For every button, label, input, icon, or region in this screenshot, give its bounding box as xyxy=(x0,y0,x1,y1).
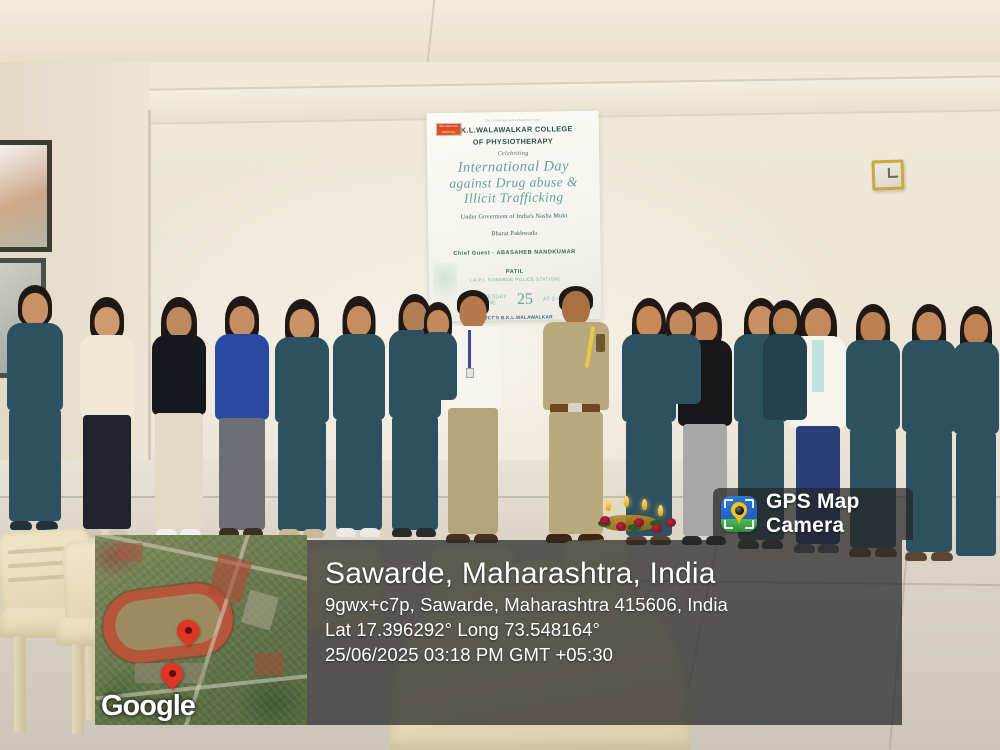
id-card-icon xyxy=(466,368,474,378)
gps-map-camera-logo-icon xyxy=(721,496,757,532)
person-student xyxy=(76,297,138,542)
google-watermark: Google xyxy=(101,690,195,723)
poster-gov-line1: Under Goverment of India's Nasha Mukt xyxy=(436,212,592,223)
gps-text-block: Sawarde, Maharashtra, India 9gwx+c7p, Sa… xyxy=(325,556,728,667)
gps-map-camera-badge: GPS Map Camera xyxy=(713,488,913,540)
poster-title-script: International Day against Drug abuse & I… xyxy=(435,159,592,206)
poster-station: ( A.P.I. SAWARDE POLICE STATION) xyxy=(437,276,593,283)
lamp-flame xyxy=(658,505,663,516)
person-student xyxy=(212,296,272,544)
person-student xyxy=(148,297,210,542)
map-pin-icon xyxy=(161,663,183,693)
person-student-back-row xyxy=(660,302,702,402)
person-student xyxy=(330,296,388,544)
poster-script-line3: Illicit Trafficking xyxy=(436,189,592,206)
window-upper-left xyxy=(0,140,52,252)
lanyard-icon xyxy=(468,330,471,370)
poster-logo-line2: HOSPITAL xyxy=(437,130,461,137)
wall-clock-icon xyxy=(871,159,904,190)
gps-coordinates-line: Lat 17.396292° Long 73.548164° xyxy=(325,617,728,642)
poster-celebrating: Celebriting xyxy=(435,150,591,158)
poster-script-line2: against Drug abuse & xyxy=(435,174,591,191)
inner-top xyxy=(812,340,824,392)
rose-decor xyxy=(600,516,610,525)
poster-guest-line1: Chief Guest - ABASAHEB NANDKUMAR xyxy=(436,249,592,258)
gps-app-name: GPS Map Camera xyxy=(766,490,913,538)
rose-decor xyxy=(652,524,662,533)
gps-location-title: Sawarde, Maharashtra, India xyxy=(325,556,728,592)
person-student xyxy=(272,299,332,544)
rose-decor xyxy=(666,518,676,527)
poster-logo-icon: WALAWALKAR HOSPITAL xyxy=(436,123,462,136)
lamp-flame xyxy=(624,496,629,507)
rose-decor xyxy=(634,518,644,527)
map-pin-icon xyxy=(177,620,199,650)
gps-address-line: 9gwx+c7p, Sawarde, Maharashtra 415606, I… xyxy=(325,592,728,617)
person-student-back-row xyxy=(762,300,808,420)
poster-date-number: 25 xyxy=(517,291,533,309)
gps-timestamp-line: 25/06/2025 03:18 PM GMT +05:30 xyxy=(325,642,728,667)
shoulder-patch-icon xyxy=(596,334,605,352)
poster-heading-line2: OF PHYSIOTHERAPY xyxy=(435,136,591,147)
ceiling xyxy=(0,0,1000,62)
lamp-flame xyxy=(642,499,647,510)
person-student xyxy=(4,285,66,535)
gps-map-thumbnail[interactable]: Google xyxy=(95,535,307,725)
lamp-flame xyxy=(606,500,611,511)
person-student-back-row xyxy=(418,302,458,398)
gps-info-band: Sawarde, Maharashtra, India 9gwx+c7p, Sa… xyxy=(305,540,902,725)
poster-gov-line2: Bharat Pakhwada xyxy=(436,228,592,239)
rose-decor xyxy=(616,522,626,531)
person-police-officer xyxy=(540,286,612,554)
person-student xyxy=(952,306,1000,564)
gps-map-camera-photo: WALAWALKAR HOSPITAL Shri Vithalrao Joshi… xyxy=(0,0,1000,750)
